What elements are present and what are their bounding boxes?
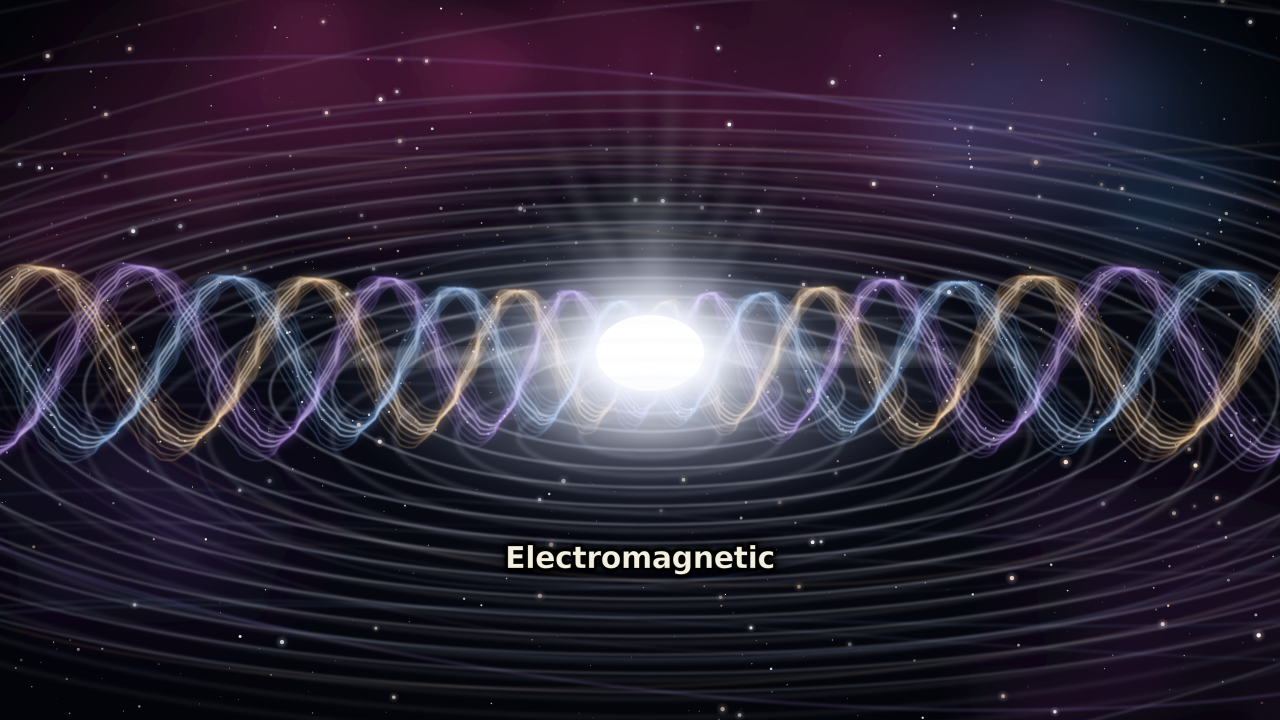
ripple-rings-front-layer: [0, 0, 1280, 720]
scene-canvas: Electromagnetic: [0, 0, 1280, 720]
page-title: Electromagnetic: [0, 541, 1280, 576]
